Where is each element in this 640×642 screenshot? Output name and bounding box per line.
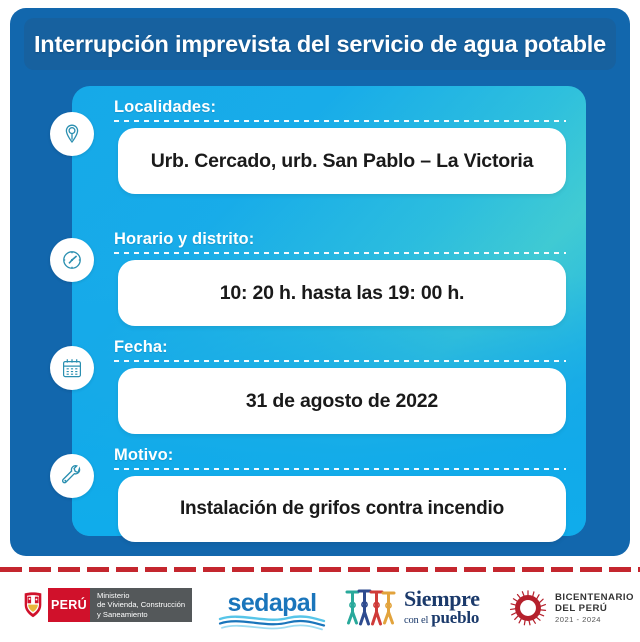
bicentenario-line-3: 2021 - 2024 <box>555 614 634 625</box>
bicentenario-sunburst-icon <box>508 588 548 628</box>
page-title: Interrupción imprevista del servicio de … <box>34 31 606 58</box>
logo-bicentenario: BICENTENARIO DEL PERÚ 2021 - 2024 <box>508 588 634 628</box>
field-value-box-fecha: 31 de agosto de 2022 <box>118 368 566 434</box>
logo-sedapal: sedapal <box>218 590 326 632</box>
poster-root: Interrupción imprevista del servicio de … <box>0 0 640 642</box>
field-value-horario: 10: 20 h. hasta las 19: 00 h. <box>220 282 465 305</box>
bicentenario-wordmark: BICENTENARIO DEL PERÚ 2021 - 2024 <box>555 592 634 625</box>
siempre-sub-small: con el <box>404 615 428 626</box>
field-value-box-horario: 10: 20 h. hasta las 19: 00 h. <box>118 260 566 326</box>
logo-siempre-con-el-pueblo: Siempre con el pueblo <box>344 586 480 630</box>
field-value-box-localidades: Urb. Cercado, urb. San Pablo – La Victor… <box>118 128 566 194</box>
dashed-rule <box>114 468 566 470</box>
title-bar: Interrupción imprevista del servicio de … <box>24 18 616 70</box>
footer-logos: PERÚ Ministerio de Vivienda, Construcció… <box>0 578 640 642</box>
field-label-motivo: Motivo: <box>114 446 173 465</box>
field-value-localidades: Urb. Cercado, urb. San Pablo – La Victor… <box>151 150 533 173</box>
clock-icon <box>50 238 94 282</box>
people-figures-icon <box>344 586 400 630</box>
field-label-horario: Horario y distrito: <box>114 230 254 249</box>
sedapal-wordmark: sedapal <box>218 590 326 616</box>
red-dashed-divider <box>0 567 640 572</box>
field-label-fecha: Fecha: <box>114 338 168 357</box>
dashed-rule <box>114 120 566 122</box>
siempre-wordmark: Siempre con el pueblo <box>404 588 480 628</box>
bicentenario-line-2: DEL PERÚ <box>555 603 634 614</box>
peru-wordmark: PERÚ <box>48 588 90 622</box>
field-value-motivo: Instalación de grifos contra incendio <box>180 498 504 520</box>
ministerio-name: Ministerio de Vivienda, Construcción y S… <box>90 588 192 622</box>
bicentenario-line-1: BICENTENARIO <box>555 592 634 603</box>
siempre-sub-big: pueblo <box>431 608 479 627</box>
ministerio-line-3: y Saneamiento <box>97 610 185 619</box>
announcement-card: Interrupción imprevista del servicio de … <box>10 8 630 556</box>
ministerio-line-2: de Vivienda, Construcción <box>97 600 185 609</box>
siempre-sub-text: con el pueblo <box>404 610 480 628</box>
siempre-main-text: Siempre <box>404 588 480 610</box>
field-value-box-motivo: Instalación de grifos contra incendio <box>118 476 566 542</box>
calendar-icon <box>50 346 94 390</box>
dashed-rule <box>114 360 566 362</box>
field-label-localidades: Localidades: <box>114 98 216 117</box>
dashed-rule <box>114 252 566 254</box>
field-value-fecha: 31 de agosto de 2022 <box>246 390 438 413</box>
logo-ministerio-vivienda: PERÚ Ministerio de Vivienda, Construcció… <box>18 588 192 622</box>
wrench-icon <box>50 454 94 498</box>
location-pin-icon <box>50 112 94 156</box>
ministerio-line-1: Ministerio <box>97 591 185 600</box>
peru-coat-of-arms-icon <box>18 588 48 622</box>
